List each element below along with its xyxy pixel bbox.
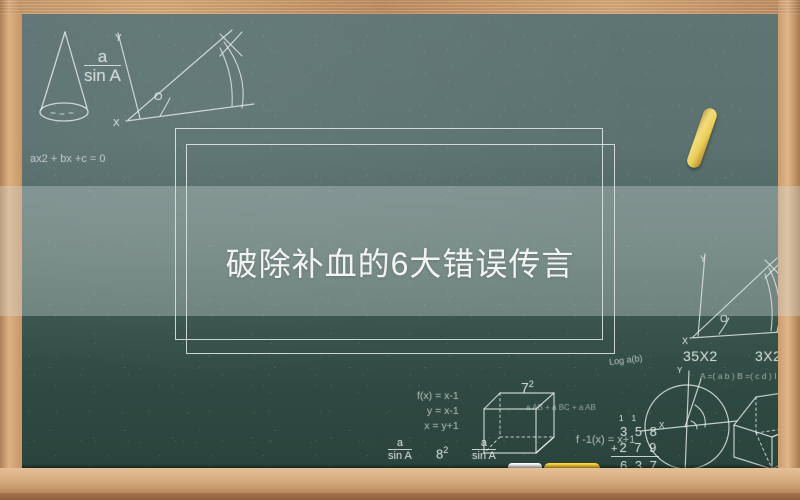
chalk-note-log-ab: Log a(b) — [609, 353, 644, 367]
chalk-note-vector-sum: a AB + a BC + a AB — [526, 403, 596, 412]
frame-right — [778, 0, 800, 500]
chalk-label-axis-y-1: Y — [115, 33, 122, 44]
chalk-note-a-over-sina-2: a sin A — [388, 438, 412, 462]
angle-theta-diagram-left — [102, 26, 262, 136]
chalk-note-seven-squared: 72 — [521, 379, 534, 396]
chalk-label-theta-2: O — [720, 314, 728, 325]
chalk-label-axis-x-1: X — [113, 118, 120, 129]
chalk-tray-ledge — [0, 468, 800, 500]
chalk-note-quadratic: ax2 + bx +c = 0 — [30, 153, 106, 165]
chalk-label-theta-1: O — [154, 91, 163, 103]
chalk-note-eight-squared: 82 — [436, 445, 448, 461]
wireframe-cube-right — [722, 389, 778, 468]
chalkboard-surface: a sin A Y X O ax2 + bx +c = 0 — [22, 14, 778, 468]
frame-left — [0, 0, 22, 500]
chalk-label-axis-x-2: X — [682, 336, 688, 346]
frame-top — [0, 0, 800, 14]
tray-lip — [0, 493, 800, 500]
page-title: 破除补血的6大错误传言 — [22, 239, 778, 285]
chalk-label-axis-x-3: X — [659, 421, 664, 430]
chalk-label-axis-y-3: Y — [677, 366, 682, 375]
chalk-note-35x2: 35X2 — [683, 348, 718, 364]
chalk-note-a-over-sina-3: a sin A — [472, 438, 496, 462]
chalkboard-banner: a sin A Y X O ax2 + bx +c = 0 — [0, 0, 800, 500]
chalk-note-function-definitions: f(x) = x-1 y = x-1 x = y+1 — [417, 389, 459, 435]
chalk-stick-on-board[interactable] — [685, 106, 718, 169]
chalk-note-3x2: 3X2 — [755, 348, 778, 364]
chalk-note-addition-problem: 1 1 3 5 8 +2 7 9 6 3 7 — [611, 414, 659, 468]
